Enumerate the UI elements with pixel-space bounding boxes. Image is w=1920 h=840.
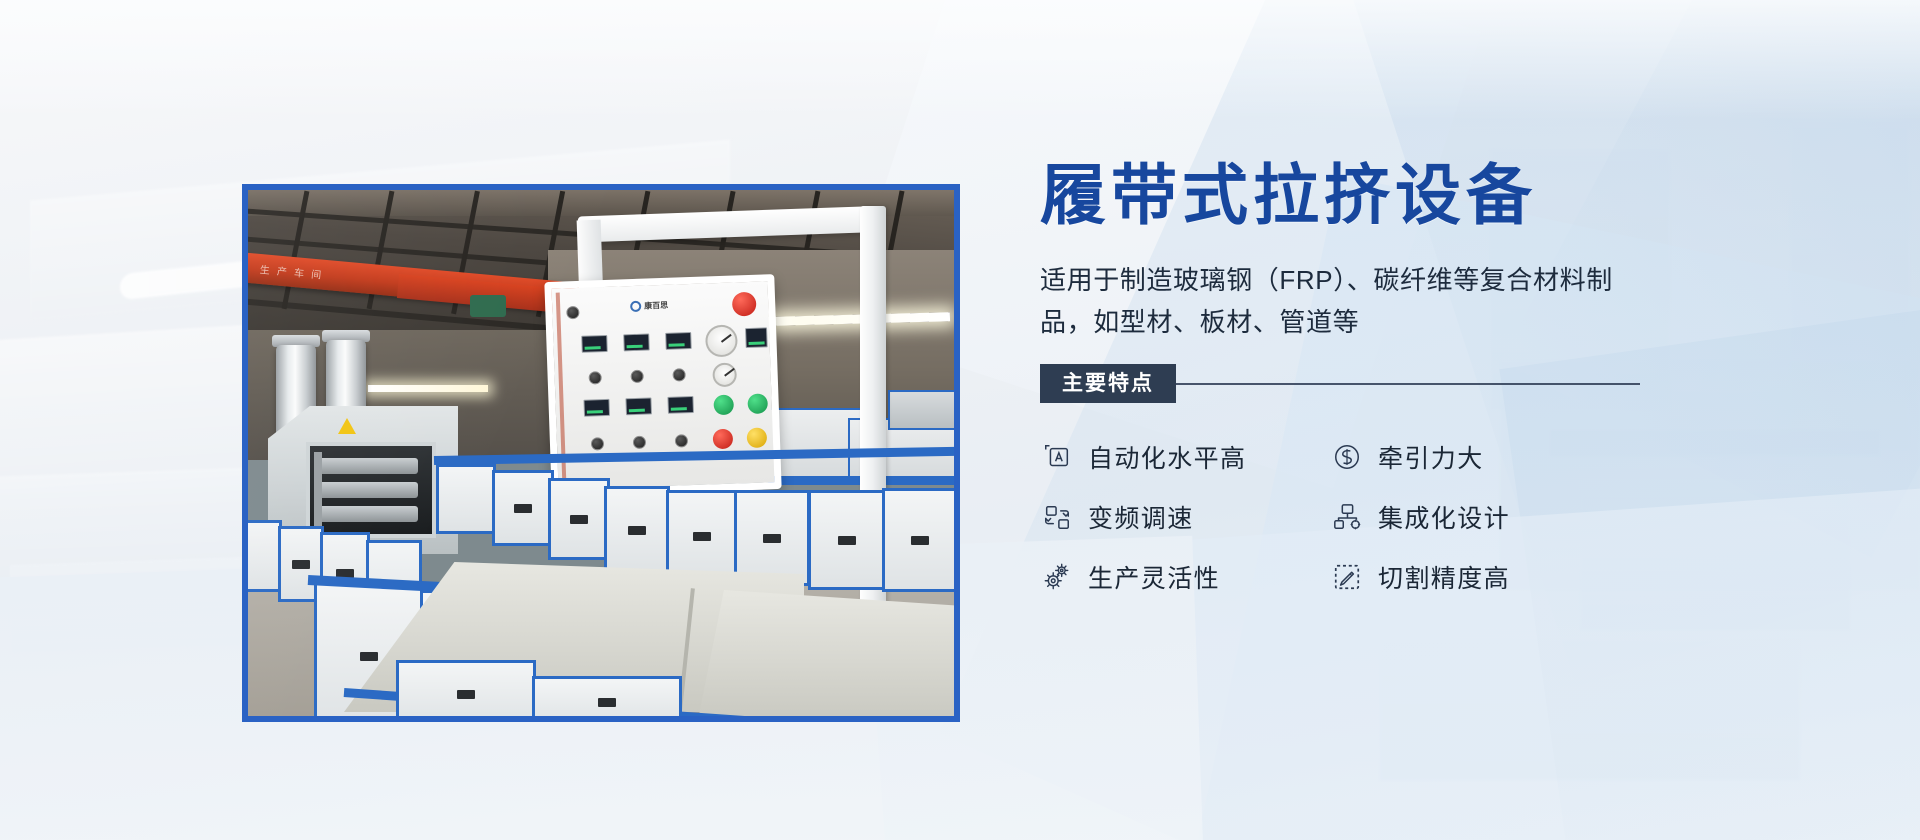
feature-label: 生产灵活性 bbox=[1088, 559, 1220, 595]
frequency-icon bbox=[1040, 500, 1074, 534]
feature-row: 变频调速 集成化设计 bbox=[1040, 487, 1660, 547]
divider-row: 主要特点 bbox=[1040, 361, 1640, 401]
page-title: 履带式拉挤设备 bbox=[1040, 160, 1740, 231]
feature-label: 自动化水平高 bbox=[1088, 439, 1246, 475]
feature-label: 切割精度高 bbox=[1378, 559, 1510, 595]
feature-list: 自动化水平高 牵引力大 bbox=[1040, 427, 1660, 607]
page-subtitle: 适用于制造玻璃钢（FRP）、碳纤维等复合材料制品，如型材、板材、管道等 bbox=[1040, 259, 1640, 343]
feature-item-traction[interactable]: 牵引力大 bbox=[1330, 427, 1630, 487]
banner-content: 履带式拉挤设备 适用于制造玻璃钢（FRP）、碳纤维等复合材料制品，如型材、板材、… bbox=[1040, 160, 1740, 607]
feature-row: 生产灵活性 切割精度高 bbox=[1040, 547, 1660, 607]
status-badge: 主要特点 bbox=[1040, 364, 1176, 403]
bg-top-band bbox=[0, 0, 1920, 120]
feature-item-cutting[interactable]: 切割精度高 bbox=[1330, 547, 1630, 607]
traction-icon bbox=[1330, 440, 1364, 474]
integration-icon bbox=[1330, 500, 1364, 534]
feature-item-automation[interactable]: 自动化水平高 bbox=[1040, 427, 1330, 487]
feature-label: 集成化设计 bbox=[1378, 499, 1510, 535]
cutting-icon bbox=[1330, 560, 1364, 594]
gears-icon bbox=[1040, 560, 1074, 594]
feature-item-frequency[interactable]: 变频调速 bbox=[1040, 487, 1330, 547]
photo-glare bbox=[248, 190, 954, 716]
automation-icon bbox=[1040, 440, 1074, 474]
feature-item-integration[interactable]: 集成化设计 bbox=[1330, 487, 1630, 547]
feature-label: 牵引力大 bbox=[1378, 439, 1484, 475]
product-banner: 生 产 车 间 康百思 bbox=[0, 0, 1920, 840]
feature-row: 自动化水平高 牵引力大 bbox=[1040, 427, 1660, 487]
feature-item-flexibility[interactable]: 生产灵活性 bbox=[1040, 547, 1330, 607]
product-photo: 生 产 车 间 康百思 bbox=[242, 184, 960, 722]
feature-label: 变频调速 bbox=[1088, 499, 1194, 535]
